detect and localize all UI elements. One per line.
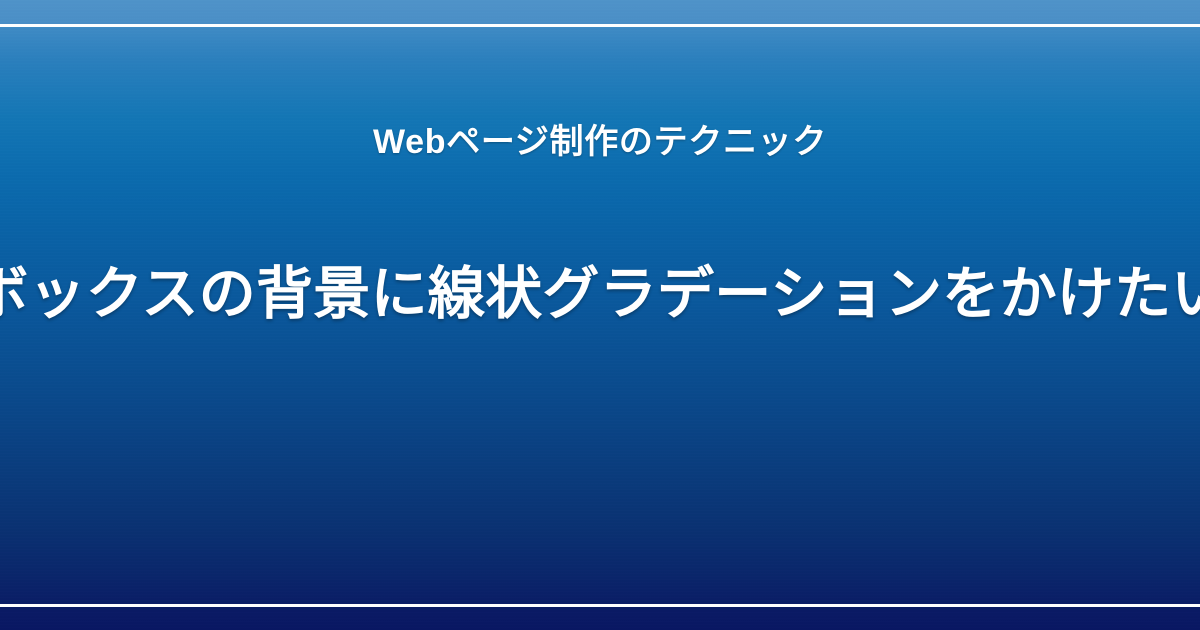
card-content: Webページ制作のテクニック ボックスの背景に線状グラデーションをかけたい (0, 0, 1200, 630)
og-card: Webページ制作のテクニック ボックスの背景に線状グラデーションをかけたい (0, 0, 1200, 630)
card-title: ボックスの背景に線状グラデーションをかけたい (0, 259, 1200, 330)
card-subtitle: Webページ制作のテクニック (373, 122, 827, 163)
